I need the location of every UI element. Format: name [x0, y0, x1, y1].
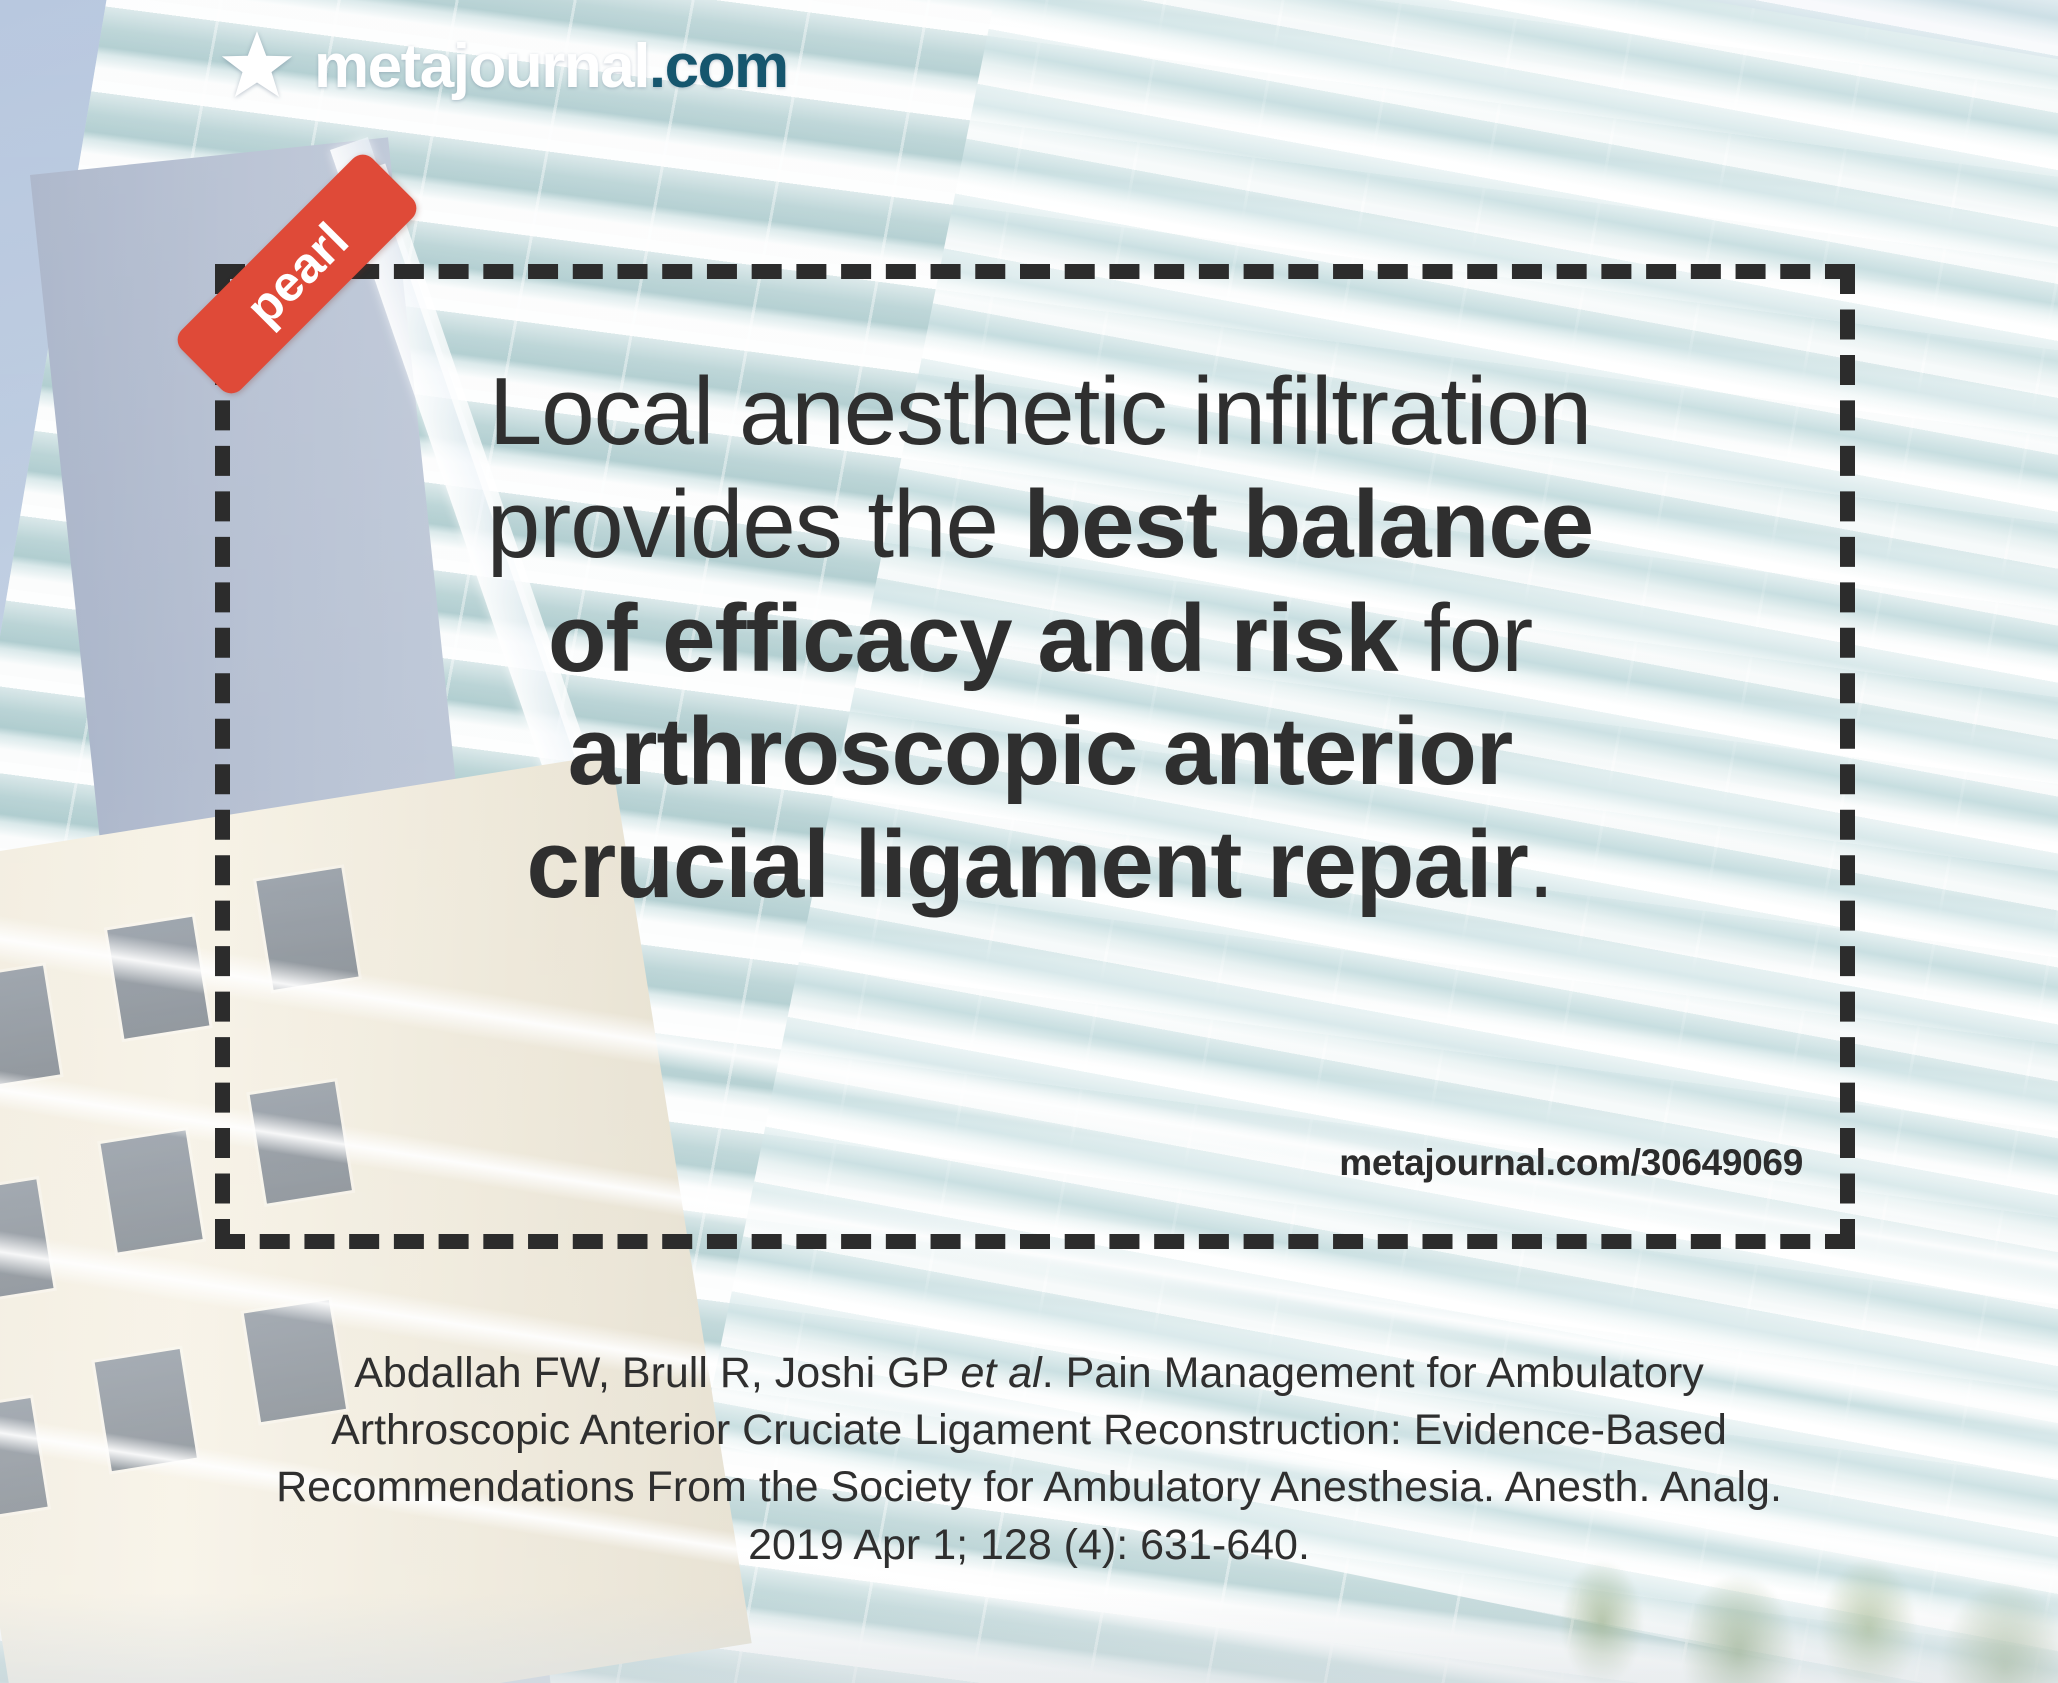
logo-tld: .com — [649, 32, 788, 101]
quote-line: of efficacy and risk for — [300, 582, 1780, 695]
quote-line: arthroscopic anterior — [300, 695, 1780, 808]
quote-emphasis: arthroscopic anterior — [568, 698, 1513, 805]
logo-wordmark: metajournal.com — [314, 36, 788, 98]
site-logo[interactable]: metajournal.com — [218, 28, 788, 106]
quote-emphasis: of efficacy and risk — [548, 585, 1398, 692]
citation-text: Recommendations From the Society for Amb… — [276, 1463, 1782, 1511]
pearl-quote: Local anesthetic infiltrationprovides th… — [300, 355, 1780, 921]
star-icon — [218, 28, 296, 106]
citation-text: Arthroscopic Anterior Cruciate Ligament … — [331, 1406, 1727, 1454]
quote-line: provides the best balance — [300, 468, 1780, 581]
citation-line: Arthroscopic Anterior Cruciate Ligament … — [150, 1402, 1908, 1459]
quote-emphasis: best balance — [1024, 471, 1594, 578]
logo-name: metajournal — [314, 32, 649, 101]
pearl-url[interactable]: metajournal.com/30649069 — [1339, 1142, 1803, 1184]
citation-line: Recommendations From the Society for Amb… — [150, 1459, 1908, 1516]
citation: Abdallah FW, Brull R, Joshi GP et al. Pa… — [150, 1345, 1908, 1574]
quote-text: provides the — [487, 471, 1024, 578]
citation-text: . Pain Management for Ambulatory — [1042, 1349, 1704, 1397]
quote-text: . — [1528, 811, 1554, 918]
citation-line: 2019 Apr 1; 128 (4): 631-640. — [150, 1517, 1908, 1574]
citation-line: Abdallah FW, Brull R, Joshi GP et al. Pa… — [150, 1345, 1908, 1402]
quote-text: Local anesthetic infiltration — [489, 358, 1591, 465]
quote-text: for — [1397, 585, 1532, 692]
citation-text: Abdallah FW, Brull R, Joshi GP — [354, 1349, 960, 1397]
quote-line: Local anesthetic infiltration — [300, 355, 1780, 468]
pearl-card: metajournal.com pearl Local anesthetic i… — [0, 0, 2058, 1683]
quote-line: crucial ligament repair. — [300, 808, 1780, 921]
citation-text: 2019 Apr 1; 128 (4): 631-640. — [748, 1521, 1310, 1569]
quote-emphasis: crucial ligament repair — [526, 811, 1527, 918]
citation-etal: et al — [960, 1349, 1041, 1397]
